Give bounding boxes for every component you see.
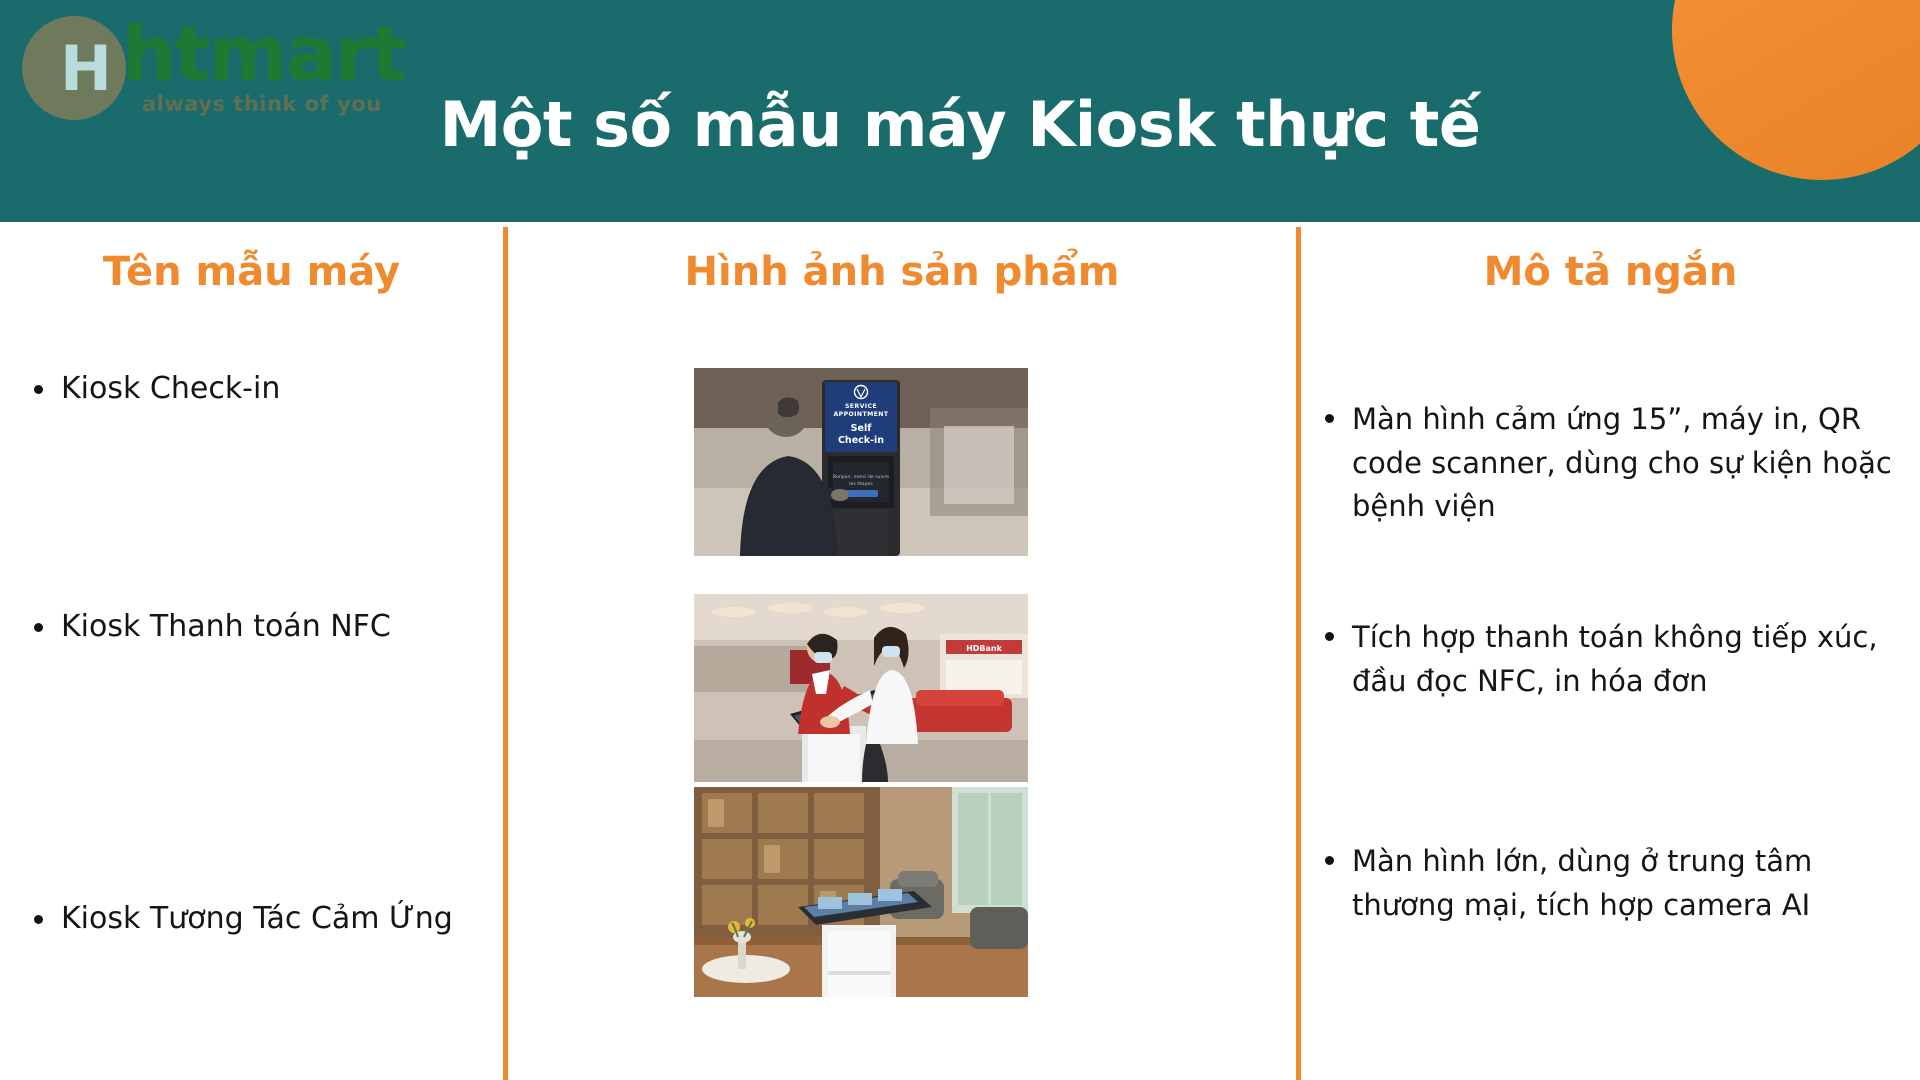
list-item: Màn hình lớn, dùng ở trung tâm thương mạ… bbox=[1325, 840, 1900, 927]
svg-text:HDBank: HDBank bbox=[966, 644, 1003, 653]
photo-checkin-illustration: SERVICE APPOINTMENT Self Check-in Bonjou… bbox=[694, 368, 1028, 556]
bullet-icon bbox=[34, 385, 43, 394]
svg-text:Check-in: Check-in bbox=[838, 435, 884, 446]
column-divider-right bbox=[1296, 227, 1301, 1080]
description-text: Màn hình cảm ứng 15”, máy in, QR code sc… bbox=[1352, 398, 1900, 529]
bullet-icon bbox=[34, 623, 43, 632]
svg-text:SERVICE: SERVICE bbox=[845, 403, 877, 410]
svg-text:Self: Self bbox=[851, 423, 873, 434]
slide: H htmart always think of you Một số mẫu … bbox=[0, 0, 1920, 1080]
bullet-icon bbox=[34, 915, 43, 924]
product-image-list: SERVICE APPOINTMENT Self Check-in Bonjou… bbox=[508, 322, 1296, 1080]
product-photo-nfc: HDBank bbox=[694, 594, 1028, 782]
bullet-icon bbox=[1325, 632, 1334, 641]
list-item: Màn hình cảm ứng 15”, máy in, QR code sc… bbox=[1325, 398, 1900, 529]
model-name: Kiosk Check-in bbox=[61, 370, 280, 408]
product-photo-checkin: SERVICE APPOINTMENT Self Check-in Bonjou… bbox=[694, 368, 1028, 556]
bullet-icon bbox=[1325, 856, 1334, 865]
list-item: Kiosk Tương Tác Cảm Ứng bbox=[34, 900, 504, 938]
model-name: Kiosk Tương Tác Cảm Ứng bbox=[61, 900, 453, 938]
page-title: Một số mẫu máy Kiosk thực tế bbox=[0, 0, 1920, 222]
product-photo-interactive bbox=[694, 787, 1028, 997]
svg-text:les étapes: les étapes bbox=[849, 480, 873, 487]
slide-header: H htmart always think of you Một số mẫu … bbox=[0, 0, 1920, 222]
list-item: Kiosk Thanh toán NFC bbox=[34, 608, 504, 646]
bullet-icon bbox=[1325, 414, 1334, 423]
svg-text:Bonjour, merci de suivre: Bonjour, merci de suivre bbox=[833, 474, 889, 480]
svg-text:APPOINTMENT: APPOINTMENT bbox=[833, 411, 888, 418]
list-item: Tích hợp thanh toán không tiếp xúc, đầu … bbox=[1325, 616, 1900, 703]
description-text: Màn hình lớn, dùng ở trung tâm thương mạ… bbox=[1352, 840, 1900, 927]
description-text: Tích hợp thanh toán không tiếp xúc, đầu … bbox=[1352, 616, 1900, 703]
column-header-name: Tên mẫu máy bbox=[0, 250, 503, 294]
model-name: Kiosk Thanh toán NFC bbox=[61, 608, 391, 646]
photo-interactive-illustration bbox=[694, 787, 1028, 997]
list-item: Kiosk Check-in bbox=[34, 370, 504, 408]
column-header-image: Hình ảnh sản phẩm bbox=[508, 250, 1296, 294]
content-area: Tên mẫu máy Hình ảnh sản phẩm Mô tả ngắn… bbox=[0, 222, 1920, 1080]
photo-nfc-illustration: HDBank bbox=[694, 594, 1028, 782]
column-header-desc: Mô tả ngắn bbox=[1301, 250, 1920, 294]
